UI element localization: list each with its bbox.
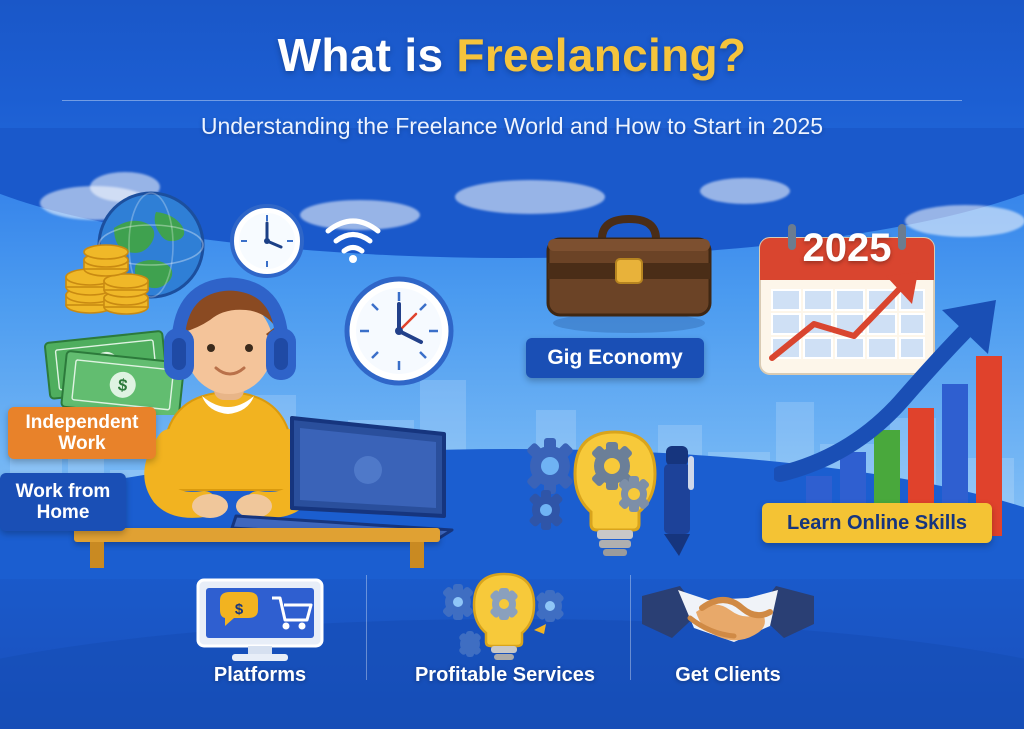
cloud-icon bbox=[700, 178, 790, 204]
desk-leg bbox=[90, 542, 104, 568]
wifi-icon bbox=[322, 215, 384, 265]
desk-icon bbox=[74, 528, 440, 542]
infographic-poster: What is Freelancing? Understanding the F… bbox=[0, 0, 1024, 729]
page-title: What is Freelancing? bbox=[0, 28, 1024, 82]
pen-icon bbox=[648, 440, 708, 560]
bottom-item-caption: Get Clients bbox=[623, 664, 833, 687]
label-learn-online-skills: Learn Online Skills bbox=[762, 503, 992, 543]
bottom-item-get-clients[interactable]: Get Clients bbox=[623, 578, 833, 687]
page-title-text: What is bbox=[278, 29, 457, 81]
page-subtitle: Understanding the Freelance World and Ho… bbox=[0, 113, 1024, 140]
monitor-ecommerce-icon: $ bbox=[190, 576, 330, 664]
bottom-item-profitable-services[interactable]: Profitable Services bbox=[400, 568, 610, 687]
svg-text:$: $ bbox=[235, 601, 244, 618]
lightbulb-gears-icon bbox=[430, 568, 580, 664]
page-title-highlight: Freelancing? bbox=[456, 29, 746, 81]
bottom-item-caption: Profitable Services bbox=[400, 664, 610, 687]
bottom-divider bbox=[366, 575, 367, 680]
growth-arrow-icon bbox=[774, 288, 1024, 488]
briefcase-icon bbox=[534, 205, 724, 335]
label-work-from-home: Work from Home bbox=[0, 473, 126, 531]
laptop-icon bbox=[230, 412, 460, 542]
bottom-item-caption: Platforms bbox=[155, 664, 365, 687]
handshake-icon bbox=[638, 578, 818, 664]
label-gig-economy: Gig Economy bbox=[526, 338, 704, 378]
desk-leg bbox=[410, 542, 424, 568]
clock-small-icon bbox=[229, 203, 305, 279]
bottom-item-platforms[interactable]: $ Platforms bbox=[155, 576, 365, 687]
title-divider bbox=[62, 100, 962, 101]
label-independent-work: Independent Work bbox=[8, 407, 156, 459]
